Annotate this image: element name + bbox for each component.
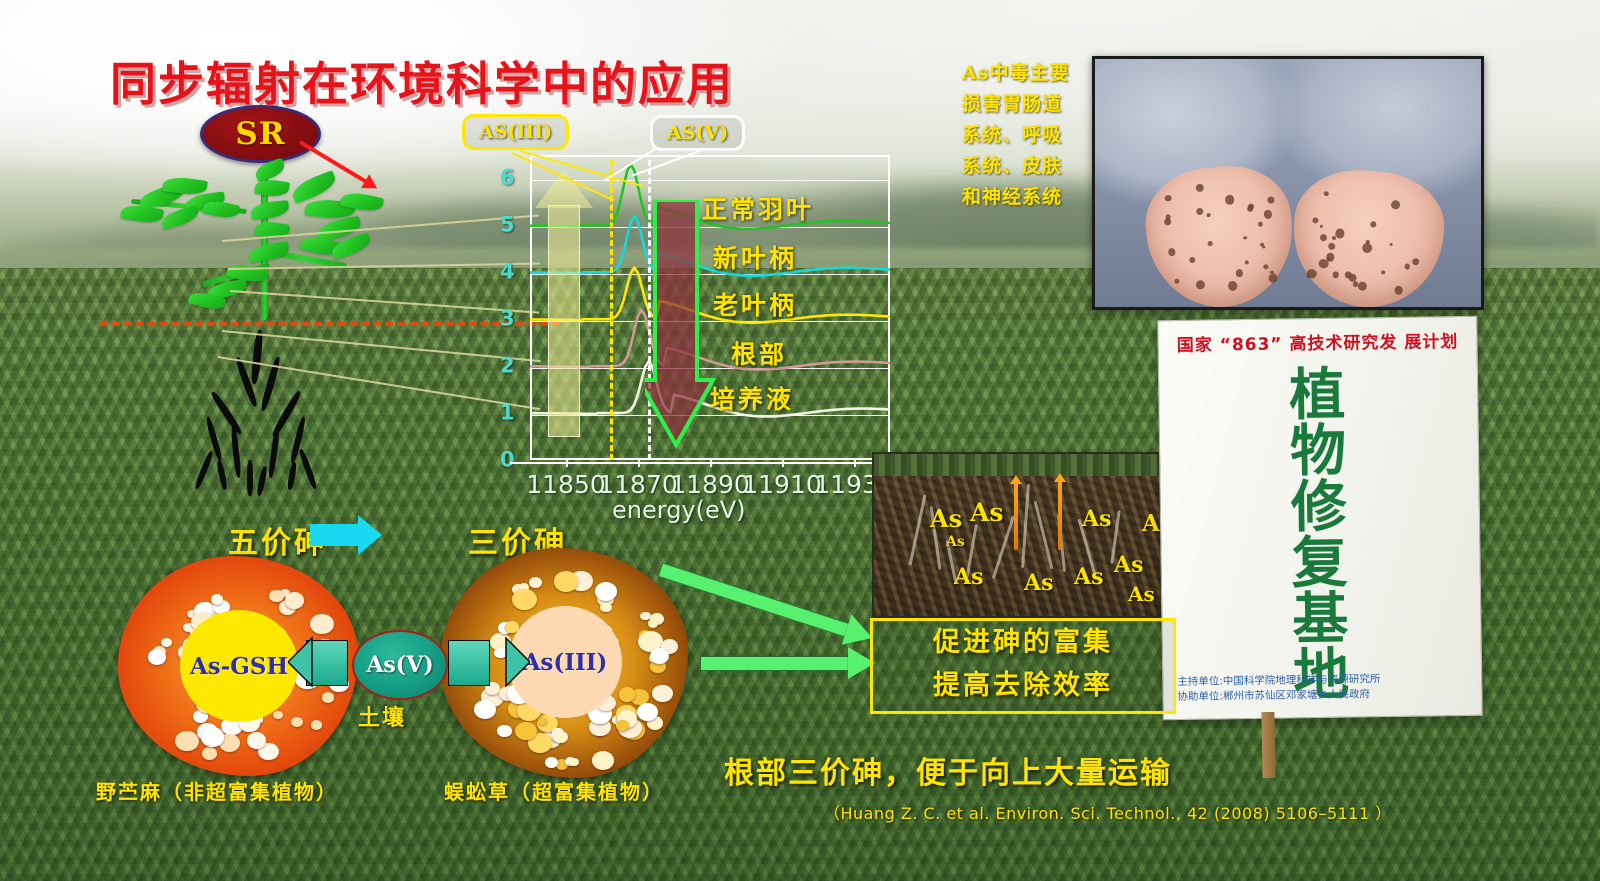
keratosis-spot-0-7 — [1263, 210, 1273, 220]
outcome-line-1: 促进砷的富集 — [873, 621, 1173, 664]
sign-char-4: 基 — [1162, 589, 1481, 649]
plant-root-3 — [210, 390, 244, 435]
cell-right-granule-81 — [569, 758, 579, 767]
keratosis-spot-0-5 — [1163, 218, 1171, 226]
soil-as-label-0: As — [930, 504, 962, 533]
cell-right-granule-75 — [650, 648, 669, 664]
keratosis-spot-1-23 — [1411, 258, 1419, 266]
trace-label-culture-solution: 培养液 — [710, 380, 794, 416]
plant-frond-1 — [254, 178, 290, 199]
plant-root-8 — [268, 428, 281, 478]
cell-right-granule-80 — [637, 703, 658, 721]
caption-non-hyperaccumulator: 野苎麻（非超富集植物） — [96, 776, 338, 805]
plant-root-11 — [247, 460, 253, 496]
cell-right-granule-10 — [595, 582, 617, 601]
keratosis-spot-0-16 — [1207, 241, 1212, 246]
keratosis-spot-1-8 — [1370, 222, 1376, 228]
y-tick-2: 2 — [500, 354, 515, 378]
cell-right-granule-0 — [497, 725, 511, 737]
y-tick-4: 4 — [500, 260, 515, 284]
sign-header: 国家 “863” 高技术研究发 展计划 — [1158, 327, 1476, 356]
keratosis-spot-1-22 — [1362, 243, 1373, 254]
y-tick-5: 5 — [500, 213, 515, 237]
soil-as-label-7: As — [1074, 564, 1103, 590]
as-uptake-arrow-0 — [1014, 482, 1018, 550]
as3-guideline — [610, 160, 613, 460]
keratosis-spot-0-4 — [1165, 194, 1173, 202]
soil-surface-line — [100, 322, 560, 326]
outcome-line-2: 提高去除效率 — [873, 664, 1173, 707]
trace-label-old-petiole: 老叶柄 — [713, 286, 797, 322]
keratosis-spot-1-6 — [1404, 263, 1410, 269]
keratosis-spot-0-20 — [1195, 280, 1205, 290]
soil-as5-node: As(V) — [352, 630, 448, 700]
cell-left-granule-10 — [175, 731, 199, 752]
plant-root-10 — [298, 448, 318, 490]
keratosis-spot-0-15 — [1267, 196, 1275, 204]
plant-frond-17 — [202, 198, 240, 220]
keratosis-spot-1-16 — [1323, 191, 1329, 197]
sign-post — [1261, 712, 1275, 778]
keratosis-spot-1-25 — [1389, 243, 1393, 247]
trace-label-new-petiole: 新叶柄 — [713, 239, 797, 275]
cell-left-granule-38 — [291, 717, 303, 727]
soil-as5-label: As(V) — [366, 652, 433, 678]
as-poisoning-line-5: 和神经系统 — [962, 182, 1094, 213]
sign-char-1: 物 — [1160, 421, 1479, 481]
phytoremediation-base-sign: 国家 “863” 高技术研究发 展计划 植物修复基地 主持单位:中国科学院地理科… — [1157, 316, 1483, 720]
soil-caption: 土壤 — [358, 700, 406, 732]
citation-text: （Huang Z. C. et al. Environ. Sci. Techno… — [824, 800, 1392, 824]
plant-root-9 — [194, 450, 215, 489]
callout-as5: AS(V) — [650, 115, 745, 151]
x-tick-11870: 11870 — [598, 470, 678, 499]
keratosis-spot-1-21 — [1394, 286, 1403, 295]
valence-conversion-arrow — [310, 524, 358, 546]
keratosis-spot-0-19 — [1245, 261, 1249, 265]
slide-canvas: 同步辐射在环境科学中的应用 SR As中毒主要 损害胃肠道 系统、呼吸 系统、皮… — [0, 0, 1600, 881]
keratosis-spot-0-9 — [1189, 256, 1196, 263]
nucleus-as3-label: As(III) — [523, 649, 608, 676]
sign-footer: 主持单位:中国科学院地理科学与资源研究所 协助单位:郴州市苏仙区邓家塘乡人民政府 — [1177, 671, 1469, 705]
keratosis-spot-1-10 — [1391, 200, 1401, 210]
keratosis-spot-1-18 — [1328, 243, 1336, 251]
sr-badge-label: SR — [235, 116, 285, 152]
x-tick-11910: 11910 — [742, 470, 822, 499]
cell-right-granule-57 — [554, 571, 578, 591]
keratosis-spot-1-3 — [1320, 234, 1327, 241]
soil-to-right-cell-arrowhead — [484, 636, 530, 688]
cell-left-granule-66 — [273, 711, 283, 720]
cell-left-granule-35 — [201, 727, 223, 746]
cell-right-granule-64 — [616, 720, 629, 731]
cell-right-granule-67 — [512, 589, 537, 610]
soil-as-label-3: As — [1082, 506, 1111, 532]
cell-right-granule-76 — [592, 751, 614, 770]
cell-right-granule-40 — [474, 700, 497, 719]
soil-as-label-9: As — [1128, 582, 1155, 606]
caption-hyperaccumulator: 蜈蚣草（超富集植物） — [444, 776, 664, 805]
cell-right-granule-28 — [529, 577, 543, 589]
root-strand-0 — [909, 494, 927, 565]
soil-as-label-6: As — [1024, 570, 1053, 596]
soil-surface-vegetation — [874, 454, 1182, 476]
y-tick-6: 6 — [500, 166, 515, 190]
cell-right-granule-48 — [652, 685, 673, 703]
keratosis-spot-1-1 — [1358, 282, 1368, 292]
callout-as3: AS(III) — [462, 114, 569, 150]
as-poisoning-line-2: 损害胃肠道 — [962, 89, 1094, 120]
keratosis-spot-0-2 — [1263, 264, 1269, 270]
sign-footer-line-2: 协助单位:郴州市苏仙区邓家塘乡人民政府 — [1177, 686, 1469, 705]
xanes-x-axis-line — [510, 462, 910, 464]
soil-as-label-8: As — [1114, 552, 1143, 578]
soil-as-label-2: As — [946, 534, 965, 550]
keratosis-spot-0-8 — [1174, 279, 1179, 284]
root-strand-3 — [1034, 501, 1054, 570]
cell-right-granule-30 — [545, 757, 558, 768]
cell-left-granule-25 — [310, 614, 334, 634]
keratosis-spot-0-23 — [1262, 245, 1265, 248]
plant-frond-0 — [253, 158, 286, 182]
y-tick-3: 3 — [500, 307, 515, 331]
soil-to-left-cell-arrowhead — [288, 636, 334, 688]
keratosis-spot-1-4 — [1332, 271, 1339, 278]
plant-root-13 — [216, 460, 228, 491]
sign-char-3: 复 — [1161, 533, 1480, 593]
keratosis-spot-1-5 — [1335, 228, 1345, 238]
nucleus-as-gsh: As-GSH — [180, 610, 298, 722]
keratosis-spot-0-21 — [1243, 236, 1247, 240]
summary-text: 根部三价砷，便于向上大量运输 — [724, 748, 1172, 792]
y-tick-1: 1 — [500, 401, 515, 425]
plant-frond-4 — [248, 241, 290, 262]
keratosis-spot-1-15 — [1381, 271, 1385, 275]
as-poisoning-text: As中毒主要 损害胃肠道 系统、呼吸 系统、皮肤 和神经系统 — [962, 58, 1094, 213]
cell-right-granule-56 — [553, 731, 567, 743]
as-poisoning-line-3: 系统、呼吸 — [962, 120, 1094, 151]
cell-left-granule-42 — [311, 720, 322, 729]
sign-char-2: 修 — [1160, 477, 1479, 537]
trace-label-normal-leaf: 正常羽叶 — [702, 190, 814, 226]
cell-left-granule-12 — [247, 732, 267, 749]
sr-badge: SR — [200, 105, 321, 163]
keratosis-spot-0-12 — [1167, 247, 1176, 256]
keratosis-spot-0-17 — [1227, 280, 1238, 291]
cell-left-granule-49 — [285, 592, 305, 609]
page-title: 同步辐射在环境科学中的应用 — [110, 48, 734, 114]
keratosis-spot-1-11 — [1319, 225, 1323, 229]
keratosis-spot-0-11 — [1225, 195, 1235, 205]
sign-big-text: 植物修复基地 — [1159, 365, 1482, 705]
soil-as-label-1: As — [970, 498, 1003, 527]
keratosis-spot-0-22 — [1247, 206, 1253, 212]
as3-increase-arrow — [548, 205, 580, 437]
cell-right-granule-74 — [515, 722, 537, 741]
root-in-soil-photo: AsAsAsAsAsAsAsAsAsAs — [872, 452, 1184, 618]
cell-right-granule-71 — [600, 603, 611, 612]
as-uptake-arrow-1 — [1058, 480, 1062, 550]
keratosis-spot-0-18 — [1196, 207, 1204, 215]
keratosis-spot-0-10 — [1258, 222, 1263, 227]
plant-frond-8 — [289, 170, 338, 204]
trace-label-root: 根部 — [731, 335, 787, 371]
as-poisoning-line-4: 系统、皮肤 — [962, 151, 1094, 182]
cell-right-granule-26 — [648, 619, 659, 628]
plant-root-14 — [287, 462, 298, 491]
keratosis-spot-0-25 — [1235, 269, 1244, 278]
keratosis-spot-1-20 — [1331, 236, 1335, 240]
cell-left-granule-50 — [322, 692, 334, 702]
cell-left-granule-67 — [148, 649, 166, 665]
nucleus-as-gsh-label: As-GSH — [190, 653, 288, 680]
x-tick-11890: 11890 — [670, 470, 750, 499]
arsenic-keratosis-photo — [1092, 56, 1484, 310]
soil-as-label-5: As — [954, 564, 983, 590]
x-tick-11850: 11850 — [526, 470, 606, 499]
plant-frond-2 — [250, 200, 289, 220]
cell-left-granule-68 — [161, 638, 172, 647]
keratosis-spot-1-24 — [1312, 217, 1318, 223]
keratosis-spot-0-13 — [1207, 213, 1211, 217]
keratosis-spot-1-13 — [1352, 281, 1358, 287]
cell-right-granule-69 — [619, 687, 636, 701]
plant-frond-16 — [160, 205, 201, 230]
green-arrow-horizontal — [700, 656, 850, 671]
y-tick-0: 0 — [500, 448, 515, 472]
xanes-x-axis-label: energy(eV) — [612, 496, 746, 524]
plant-root-0 — [250, 330, 264, 385]
keratosis-spot-0-24 — [1270, 270, 1274, 274]
root-strand-2 — [1021, 484, 1030, 568]
sign-char-0: 植 — [1159, 365, 1478, 425]
keratosis-spot-0-14 — [1195, 183, 1204, 192]
cell-left-granule-2 — [202, 747, 217, 760]
as-poisoning-line-1: As中毒主要 — [962, 58, 1094, 89]
outcome-box: 促进砷的富集 提高去除效率 — [870, 618, 1176, 714]
